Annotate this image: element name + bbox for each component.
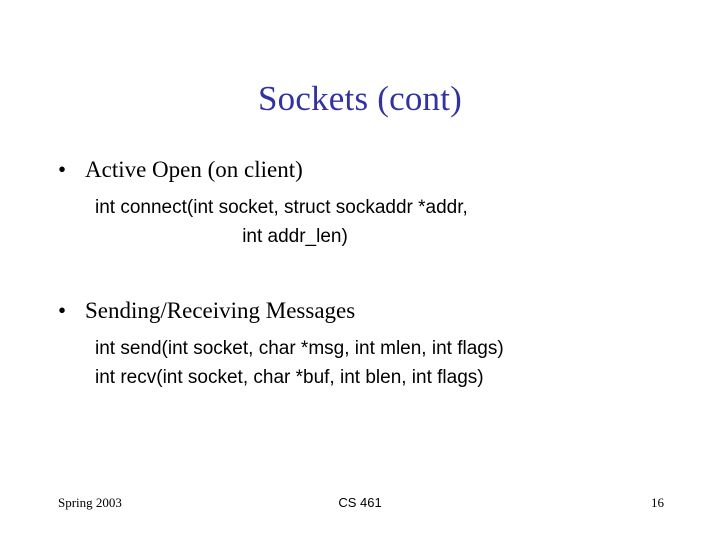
slide: Sockets (cont) • Active Open (on client)…	[0, 0, 720, 540]
bullet-item: • Active Open (on client)	[0, 155, 720, 185]
bullet-block: • Sending/Receiving Messages int send(in…	[0, 296, 720, 392]
code-line: int send(int socket, char *msg, int mlen…	[0, 334, 720, 363]
bullet-dot-icon: •	[58, 296, 66, 326]
bullet-dot-icon: •	[58, 155, 66, 185]
footer-course: CS 461	[0, 494, 720, 512]
code-line: int addr_len)	[0, 222, 590, 251]
bullet-block: • Active Open (on client) int connect(in…	[0, 155, 720, 251]
slide-body: • Active Open (on client) int connect(in…	[0, 155, 720, 392]
bullet-label: Active Open (on client)	[85, 155, 303, 185]
footer-page-number: 16	[651, 494, 664, 512]
slide-footer: Spring 2003 CS 461 16	[0, 494, 720, 516]
page-title: Sockets (cont)	[0, 78, 720, 120]
bullet-label: Sending/Receiving Messages	[85, 296, 355, 326]
bullet-item: • Sending/Receiving Messages	[0, 296, 720, 326]
code-line: int connect(int socket, struct sockaddr …	[0, 193, 720, 222]
code-line: int recv(int socket, char *buf, int blen…	[0, 363, 720, 392]
